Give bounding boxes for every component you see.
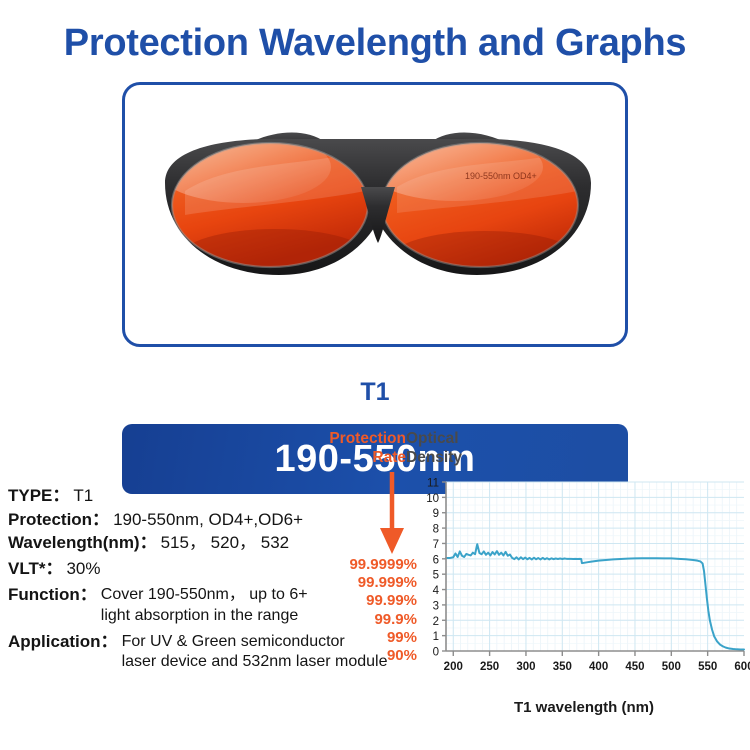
spec-value-function-line2: light absorption in the range <box>101 607 298 624</box>
protection-rate-title-line1: Protection <box>318 430 406 449</box>
spec-key-vlt: VLT*： <box>8 559 62 580</box>
svg-text:8: 8 <box>433 524 439 536</box>
chart-plot-area: 0123456789101120025030035040045050055060… <box>418 476 750 681</box>
protection-rate-item: 90% <box>305 647 417 665</box>
spec-value-type: T1 <box>73 486 93 507</box>
protection-rate-item: 99.9% <box>305 611 417 629</box>
spec-value-function-line1: Cover 190-550nm， up to 6+ <box>101 586 308 603</box>
svg-text:500: 500 <box>662 661 681 673</box>
spec-row-protection: Protection： 190-550nm, OD4+,OD6+ <box>8 510 408 531</box>
spec-key-type: TYPE： <box>8 486 69 507</box>
spec-value-protection: 190-550nm, OD4+,OD6+ <box>113 510 303 531</box>
spec-value-vlt: 30% <box>66 559 100 580</box>
svg-text:5: 5 <box>433 570 439 582</box>
svg-text:6: 6 <box>433 554 439 566</box>
spec-row-wavelength: Wavelength(nm)： 515， 520， 532 <box>8 533 408 554</box>
page-title: Protection Wavelength and Graphs <box>0 22 750 65</box>
product-model-label: T1 <box>122 378 628 407</box>
spec-row-type: TYPE： T1 <box>8 486 408 507</box>
spec-value-wavelength: 515， 520， 532 <box>161 533 290 554</box>
spec-key-wavelength: Wavelength(nm)： <box>8 533 157 554</box>
svg-text:10: 10 <box>426 493 439 505</box>
protection-rate-title: Protection Rate <box>318 430 406 474</box>
svg-text:2: 2 <box>433 616 439 628</box>
optical-density-chart: 0123456789101120025030035040045050055060… <box>418 476 750 726</box>
svg-text:200: 200 <box>444 661 463 673</box>
svg-text:550: 550 <box>698 661 717 673</box>
optical-density-title-line2: Density <box>406 449 494 468</box>
svg-text:350: 350 <box>553 661 572 673</box>
svg-text:250: 250 <box>480 661 499 673</box>
spec-value-function: Cover 190-550nm， up to 6+ light absorpti… <box>101 585 308 627</box>
protection-rate-item: 99.999% <box>305 574 417 592</box>
protection-rate-item: 99% <box>305 629 417 647</box>
svg-text:9: 9 <box>433 508 439 520</box>
protection-rate-item: 99.9999% <box>305 556 417 574</box>
down-arrow-icon <box>370 470 414 558</box>
svg-text:450: 450 <box>625 661 644 673</box>
svg-text:0: 0 <box>433 647 439 659</box>
svg-text:3: 3 <box>433 600 439 612</box>
lens-marking-text: 190-550nm OD4+ <box>465 171 537 181</box>
svg-text:1: 1 <box>433 631 439 643</box>
protection-rate-list: 99.9999% 99.999% 99.99% 99.9% 99% 90% <box>305 556 417 665</box>
product-card: 190-550nm OD4+ T1 190-550nm <box>122 82 628 412</box>
svg-text:400: 400 <box>589 661 608 673</box>
product-spec-infographic: Protection Wavelength and Graphs <box>0 0 750 750</box>
spec-key-protection: Protection： <box>8 510 109 531</box>
svg-text:300: 300 <box>516 661 535 673</box>
spec-key-application: Application： <box>8 632 118 653</box>
laser-safety-glasses-photo: 190-550nm OD4+ <box>125 87 628 287</box>
svg-text:11: 11 <box>427 478 439 490</box>
product-photo-frame: 190-550nm OD4+ <box>122 82 628 347</box>
svg-text:7: 7 <box>433 539 439 551</box>
protection-rate-item: 99.99% <box>305 592 417 610</box>
svg-text:4: 4 <box>433 585 440 597</box>
chart-x-axis-title: T1 wavelength (nm) <box>418 699 750 716</box>
legend-headers: Protection Rate Optical Density <box>318 430 494 474</box>
protection-rate-title-line2: Rate <box>318 449 406 468</box>
optical-density-title: Optical Density <box>406 430 494 474</box>
svg-text:600: 600 <box>734 661 750 673</box>
optical-density-title-line1: Optical <box>406 430 494 449</box>
chart-svg: 0123456789101120025030035040045050055060… <box>418 476 750 691</box>
spec-key-function: Function： <box>8 585 97 606</box>
